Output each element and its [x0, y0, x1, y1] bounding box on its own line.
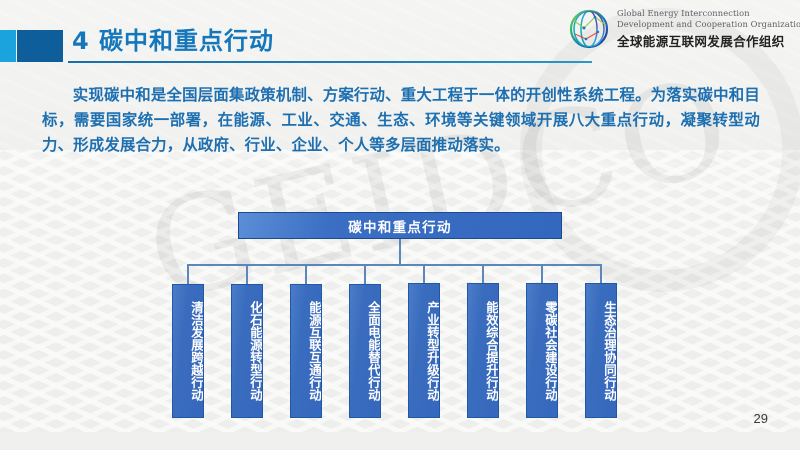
connector-drop-5 — [423, 264, 425, 283]
body-paragraph: 实现碳中和是全国层面集政策机制、方案行动、重大工程于一体的开创性系统工程。为落实… — [42, 83, 760, 158]
chart-leaf-node-6: 能效综合提升行动 — [467, 283, 499, 418]
chart-leaf-label-8: 生态治理协同行动 — [602, 301, 616, 401]
chart-leaf-node-5: 产业转型升级行动 — [408, 283, 440, 418]
page-title: 4 碳中和重点行动 — [72, 21, 274, 56]
connector-drop-1 — [187, 264, 189, 284]
connector-horizontal-bus — [187, 264, 601, 266]
globe-icon — [568, 8, 610, 50]
header-accent-square-light — [0, 30, 16, 62]
chart-leaf-label-1: 清洁发展跨越行动 — [189, 301, 203, 401]
connector-drop-8 — [600, 264, 602, 283]
chart-leaf-label-5: 产业转型升级行动 — [425, 301, 439, 401]
logo-text-en-line1: Global Energy Interconnection — [617, 8, 800, 19]
geidco-logo: Global Energy Interconnection Developmen… — [568, 8, 800, 50]
logo-text-block: Global Energy Interconnection Developmen… — [617, 8, 800, 50]
logo-text-en-line2: Development and Cooperation Organization — [617, 19, 800, 30]
chart-leaf-label-7: 零碳社会建设行动 — [543, 301, 557, 401]
connector-drop-7 — [541, 264, 543, 283]
footer-band — [0, 432, 800, 450]
page-number: 29 — [754, 411, 768, 426]
slide-canvas: GEIDCO 4 碳中和重点行动 — [0, 0, 800, 450]
chart-leaf-node-3: 能源互联互通行动 — [290, 284, 322, 418]
logo-text-cn: 全球能源互联网发展合作组织 — [617, 31, 800, 50]
header-divider-rule — [68, 61, 592, 63]
connector-stem — [399, 239, 401, 265]
chart-leaf-label-3: 能源互联互通行动 — [307, 301, 321, 401]
chart-leaf-node-8: 生态治理协同行动 — [585, 283, 617, 418]
connector-drop-6 — [482, 264, 484, 283]
chart-root-node: 碳中和重点行动 — [238, 212, 562, 239]
chart-leaf-label-4: 全面电能替代行动 — [366, 301, 380, 401]
chart-leaf-node-2: 化石能源转型行动 — [231, 284, 263, 418]
connector-drop-3 — [305, 264, 307, 284]
chart-leaf-label-6: 能效综合提升行动 — [484, 301, 498, 401]
chart-leaf-node-4: 全面电能替代行动 — [349, 284, 381, 418]
chart-leaf-node-7: 零碳社会建设行动 — [526, 283, 558, 418]
connector-drop-4 — [364, 264, 366, 284]
chart-leaf-label-2: 化石能源转型行动 — [248, 301, 262, 401]
connector-drop-2 — [246, 264, 248, 284]
chart-leaf-node-1: 清洁发展跨越行动 — [172, 284, 204, 418]
header-accent-square-dark — [17, 30, 63, 62]
